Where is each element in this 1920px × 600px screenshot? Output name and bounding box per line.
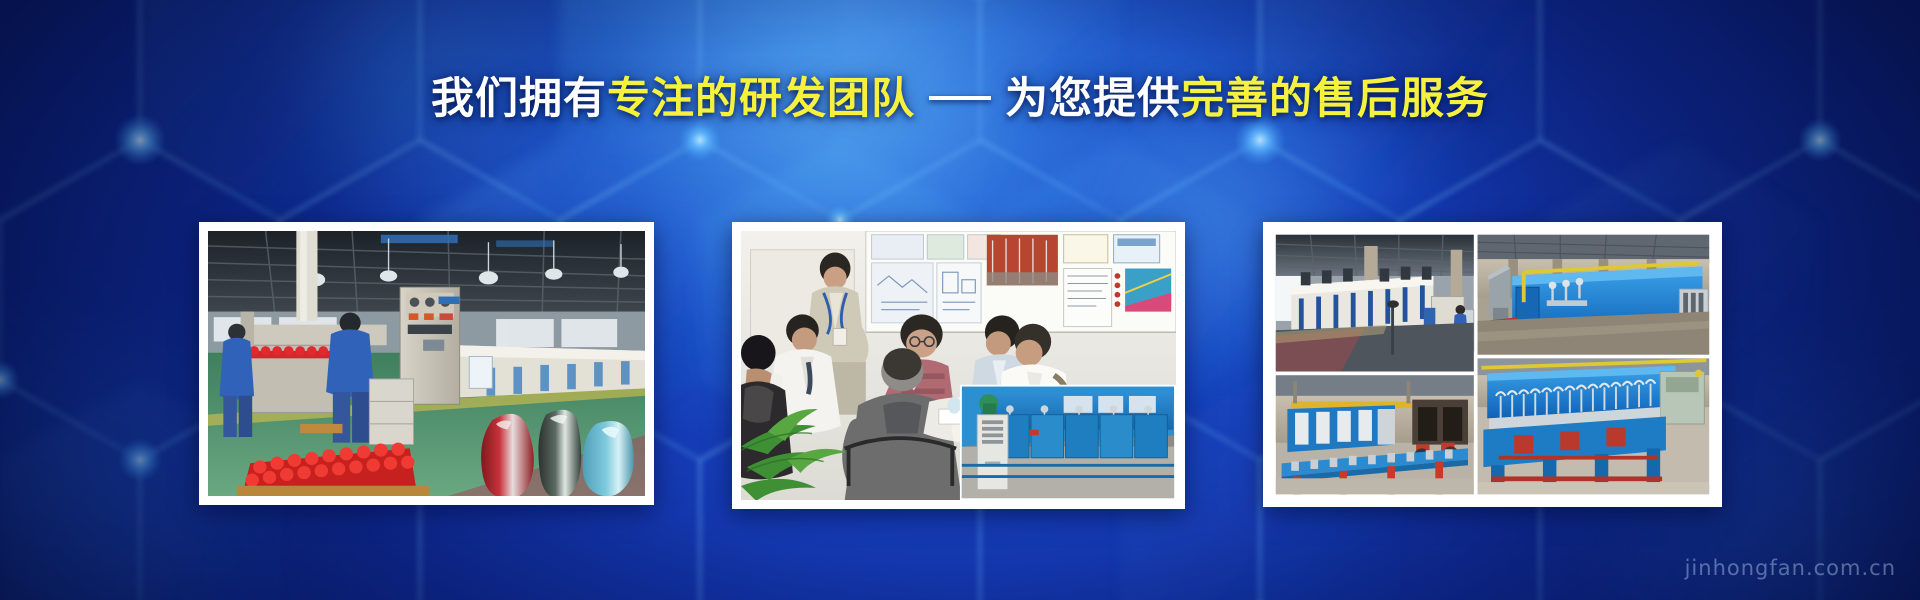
photo-team-meeting <box>741 231 1176 500</box>
site-watermark: jinhongfan.com.cn <box>1685 556 1896 580</box>
photo-frame-equipment-collage[interactable] <box>1263 222 1722 507</box>
photo-equipment-collage <box>1272 231 1713 498</box>
photo-frame-team-meeting[interactable] <box>732 222 1185 509</box>
photo-factory-line <box>208 231 645 496</box>
promo-banner: 我们拥有专注的研发团队为您提供完善的售后服务 <box>0 0 1920 600</box>
headline-part1: 我们拥有 <box>431 75 607 123</box>
headline-highlight1: 专注的研发团队 <box>607 75 915 123</box>
headline-separator-dash <box>929 96 991 100</box>
photo-frame-factory-line[interactable] <box>199 222 654 505</box>
photo-gallery-row <box>0 222 1920 509</box>
headline-part2: 为您提供 <box>1005 75 1181 123</box>
banner-headline: 我们拥有专注的研发团队为您提供完善的售后服务 <box>0 78 1920 121</box>
headline-highlight2: 完善的售后服务 <box>1181 75 1489 123</box>
